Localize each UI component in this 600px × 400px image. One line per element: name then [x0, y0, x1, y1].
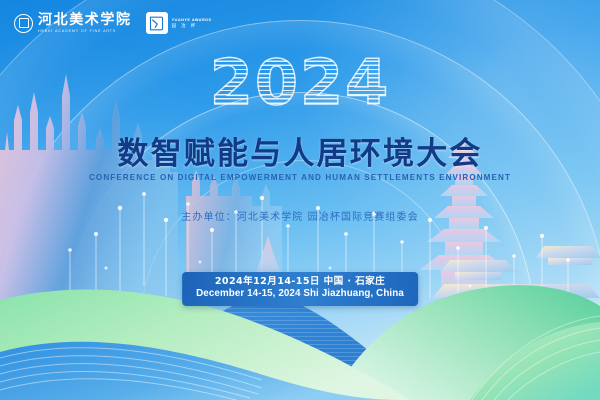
hebei-academy-logo[interactable]: 河北美术学院 HEBEI ACADEMY OF FINE ARTS — [14, 13, 132, 34]
logo-bar: 河北美术学院 HEBEI ACADEMY OF FINE ARTS YUANYE… — [14, 12, 212, 34]
hebei-academy-name-en: HEBEI ACADEMY OF FINE ARTS — [38, 30, 132, 34]
university-seal-icon — [14, 14, 33, 33]
date-location-en: December 14-15, 2024 Shi Jiazhuang, Chin… — [196, 288, 404, 301]
page-title: 数智赋能与人居环境大会 — [0, 128, 600, 173]
conference-banner: 河北美术学院 HEBEI ACADEMY OF FINE ARTS YUANYE… — [0, 0, 600, 400]
hebei-academy-name-cn: 河北美术学院 — [38, 13, 132, 27]
year-badge-2024: 2024 — [0, 52, 600, 114]
yuanye-awards-mark-icon — [146, 12, 168, 34]
yuanye-awards-logo[interactable]: YUANYE AWARDS 园 冶 杯 — [146, 12, 212, 34]
page-subtitle-english: CONFERENCE ON DIGITAL EMPOWERMENT AND HU… — [0, 173, 600, 182]
host-organizations-line: 主办单位：河北美术学院 园冶杯国际竞赛组委会 — [0, 208, 600, 223]
yuanye-awards-name-cn: 园 冶 杯 — [172, 23, 212, 29]
date-location-cn: 2024年12月14-15日 中国 · 石家庄 — [196, 276, 404, 288]
date-location-badge: 2024年12月14-15日 中国 · 石家庄 December 14-15, … — [182, 272, 418, 306]
